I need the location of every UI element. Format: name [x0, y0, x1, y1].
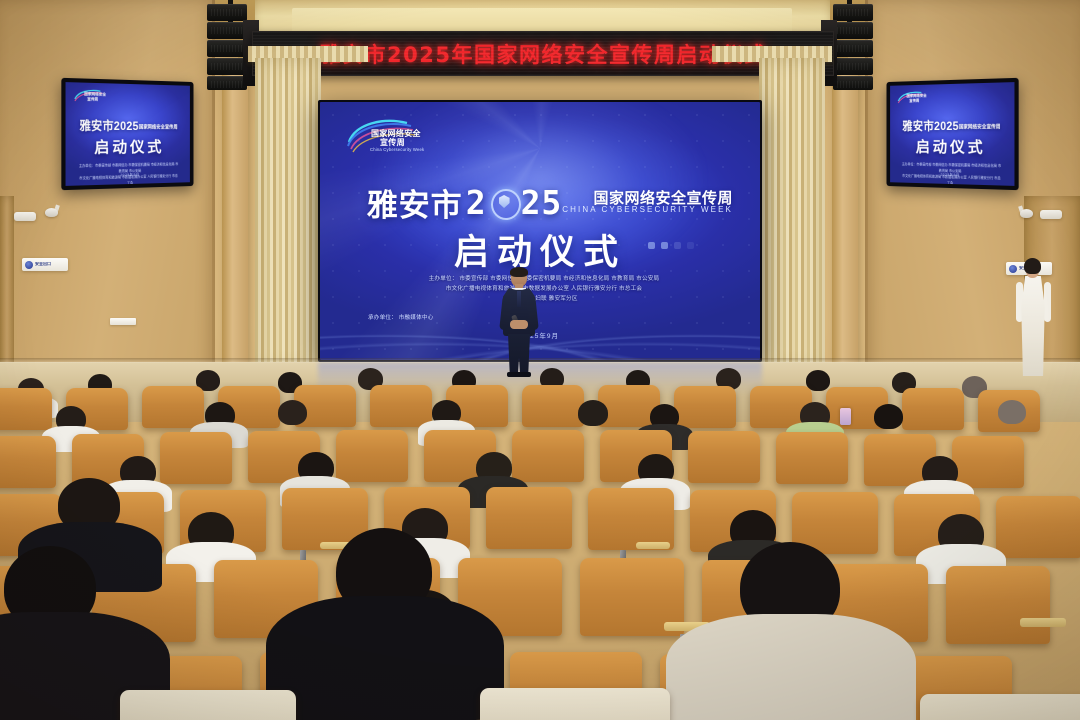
- usher-right-arm: [1044, 282, 1051, 322]
- seat[interactable]: [512, 430, 584, 482]
- speaker-cabinet: [207, 22, 247, 39]
- left-wall: [0, 0, 215, 420]
- speaker-cabinet: [207, 76, 247, 90]
- monitor-headline-right: 雅安市2025国家网络安全宣传周: [895, 116, 1009, 134]
- monitor-headline-text: 雅安市2025: [902, 119, 959, 133]
- seat[interactable]: [996, 496, 1080, 558]
- stage-curtain-right: [759, 58, 825, 373]
- monitor-headline-small: 国家网络安全宣传周: [959, 124, 1001, 130]
- speaker-cabinet: [207, 40, 247, 57]
- organizers-line-1: 主办单位： 市委宣传部 市委网信办 市委保密机要局 市经济和信息化局 市教育局 …: [368, 274, 720, 284]
- seat[interactable]: [370, 385, 432, 427]
- wall-speaker-right: [1040, 210, 1062, 219]
- monitor-logo-line2: 宣传周: [87, 97, 98, 102]
- security-camera-icon-right: [1017, 206, 1033, 219]
- audience-head: [874, 404, 903, 429]
- led-banner-text: 雅安市2025年国家网络安全宣传周启动仪式: [320, 39, 767, 69]
- audience-head: [806, 370, 830, 391]
- speaker-cabinet: [207, 4, 247, 21]
- seat[interactable]: [0, 388, 52, 430]
- organizers-line-2: 市文化广播电视体育和旅游局 市数据发展办公室 人民银行雅安分行 市总工会: [368, 284, 720, 294]
- sign-badge-icon: [25, 261, 33, 269]
- monitor-headline-left: 雅安市2025国家网络安全宣传周: [71, 116, 185, 134]
- seat[interactable]: [776, 432, 848, 484]
- wall-plate-left: [110, 318, 136, 325]
- speaker-cabinet: [833, 40, 873, 57]
- seat[interactable]: [522, 385, 584, 427]
- seat[interactable]: [0, 436, 56, 488]
- monitor-logo-line2: 宣传周: [909, 98, 919, 103]
- side-monitor-left: 国家网络安全 宣传周 雅安市2025国家网络安全宣传周 启动仪式 主办单位：市委…: [61, 78, 193, 190]
- seat-armrest: [1020, 618, 1066, 627]
- audience-shoulders: [666, 614, 916, 720]
- pilaster-left: [222, 60, 248, 390]
- audience-head: [998, 400, 1026, 424]
- monitor-logo-right: 国家网络安全 宣传周: [896, 90, 928, 106]
- seat-armrest: [636, 542, 670, 549]
- headline-en-right: CHINA CYBERSECURITY WEEK: [562, 205, 733, 214]
- seat[interactable]: [480, 688, 670, 720]
- screen-host-unit: 承办单位： 市融媒体中心: [368, 313, 434, 321]
- speaker-cabinet: [833, 22, 873, 39]
- wall-speaker-left: [14, 212, 36, 221]
- pilaster-right: [832, 60, 858, 390]
- logo-line3: China Cybersecurity Week: [370, 147, 424, 152]
- auditorium-scene: 雅安市2025年国家网络安全宣传周启动仪式 国家网络安全 宣传周 China C: [0, 0, 1080, 720]
- monitor-logo-left: 国家网络安全 宣传周: [73, 87, 108, 104]
- monitor-headline-small: 国家网络安全宣传周: [139, 124, 178, 130]
- speaker-cabinet: [833, 4, 873, 21]
- smartphone-icon[interactable]: [840, 408, 851, 425]
- line-array-speaker-left: [207, 4, 247, 91]
- seat[interactable]: [336, 430, 408, 482]
- seat[interactable]: [120, 690, 296, 720]
- side-monitor-right: 国家网络安全 宣传周 雅安市2025国家网络安全宣传周 启动仪式 主办单位：市委…: [887, 78, 1019, 190]
- side-monitor-right-surface: 国家网络安全 宣传周 雅安市2025国家网络安全宣传周 启动仪式 主办单位：市委…: [890, 82, 1014, 186]
- monitor-title-left: 启动仪式: [66, 136, 190, 158]
- seat[interactable]: [142, 386, 204, 428]
- wall-sign-left: 安全出口: [22, 258, 68, 271]
- speaker-cabinet: [833, 76, 873, 90]
- organizers-line-3: 团市委 市妇联 雅安军分区: [368, 294, 720, 304]
- speaker-cabinet: [207, 58, 247, 75]
- seat[interactable]: [588, 488, 674, 550]
- presenter-hands: [510, 320, 528, 329]
- audience-area: [0, 360, 1080, 720]
- presenter-tie: [517, 291, 521, 307]
- line-array-speaker-right: [833, 4, 873, 91]
- seat[interactable]: [486, 487, 572, 549]
- side-monitor-left-surface: 国家网络安全 宣传周 雅安市2025国家网络安全宣传周 启动仪式 主办单位：市委…: [66, 82, 190, 186]
- usher-hair: [1024, 258, 1041, 274]
- seat[interactable]: [952, 436, 1024, 488]
- screen-organizers: 主办单位： 市委宣传部 市委网信办 市委保密机要局 市经济和信息化局 市教育局 …: [368, 274, 720, 304]
- cybersecurity-week-logo: 国家网络安全 宣传周 China Cybersecurity Week: [345, 116, 429, 156]
- presenter-hair: [510, 267, 528, 277]
- audience-shoulders: [266, 596, 504, 720]
- monitor-title-right: 启动仪式: [890, 136, 1014, 158]
- monitor-headline-text: 雅安市2025: [80, 119, 139, 133]
- seat[interactable]: [688, 431, 760, 483]
- audience-head: [278, 400, 307, 425]
- title-decorative-dots: [648, 242, 694, 249]
- seat[interactable]: [160, 432, 232, 484]
- seat[interactable]: [902, 388, 964, 430]
- seat[interactable]: [946, 566, 1050, 644]
- stage-curtain-left: [255, 58, 321, 373]
- wall-sign-left-text: 安全出口: [35, 262, 51, 267]
- seat[interactable]: [674, 386, 736, 428]
- audience-head: [578, 400, 608, 426]
- screen-subhead-wrap: 国家网络安全宣传周 CHINA CYBERSECURITY WEEK: [320, 184, 760, 224]
- speaker-cabinet: [833, 58, 873, 75]
- seat[interactable]: [920, 694, 1080, 720]
- security-camera-icon-left: [45, 205, 61, 218]
